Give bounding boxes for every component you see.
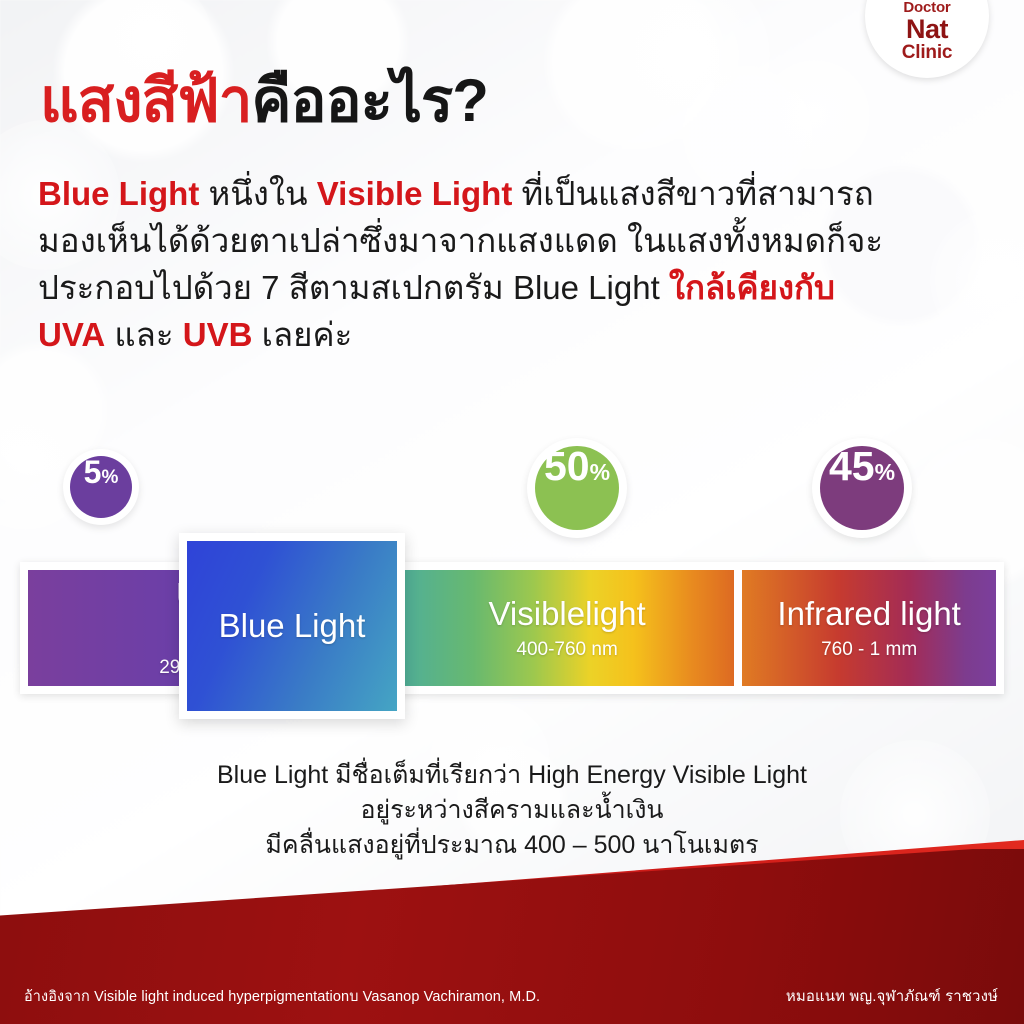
blue-light-gradient: Blue Light xyxy=(187,541,397,711)
visible-percent-number: 50 xyxy=(544,446,590,487)
page-title-red: แสงสีฟ้า xyxy=(40,67,251,134)
visible-percent-symbol: % xyxy=(590,461,610,484)
infrared-percent-number: 45 xyxy=(829,446,875,487)
intro-paragraph: Blue Light หนึ่งใน Visible Light ที่เป็น… xyxy=(38,170,968,358)
spectrum-segment-visible-range: 400-760 nm xyxy=(516,638,617,662)
infrared-percent-symbol: % xyxy=(875,461,895,484)
infrared-percent-disc: 45% xyxy=(820,446,904,530)
logo-line-clinic: Clinic xyxy=(902,43,953,64)
intro-term-uva: UVA xyxy=(38,316,105,353)
intro-term-visible-light: Visible Light xyxy=(317,175,513,212)
intro-line-2: มองเห็นได้ด้วยตาเปล่าซึ่งมาจากแสงแดด ในแ… xyxy=(38,222,883,259)
uv-percent-number: 5 xyxy=(84,456,102,488)
intro-text-1: หนึ่งใน xyxy=(199,175,316,212)
uv-percent-bubble: 5% xyxy=(63,449,139,525)
caption-line-2: อยู่ระหว่างสีครามและน้ำเงิน xyxy=(0,793,1024,828)
intro-text-3: และ xyxy=(105,316,183,353)
intro-term-uvb: UVB xyxy=(183,316,253,353)
spectrum-segment-infrared-range: 760 - 1 mm xyxy=(821,638,917,662)
intro-text-4: เลยค่ะ xyxy=(252,316,352,353)
intro-text-2: ที่เป็นแสงสีขาวที่สามารถ xyxy=(512,175,873,212)
visible-percent-bubble: 50% xyxy=(527,438,627,538)
spectrum-segment-infrared: Infrared light 760 - 1 mm xyxy=(742,570,996,686)
uv-percent-disc: 5% xyxy=(70,456,132,518)
spectrum-segment-visible: Visiblelight 400-760 nm xyxy=(400,570,734,686)
caption-block: Blue Light มีชื่อเต็มที่เรียกว่า High En… xyxy=(0,758,1024,863)
spectrum-bar: UVB UVA 290-400 nm Visiblelight 400-760 … xyxy=(20,562,1004,694)
blue-light-label: Blue Light xyxy=(219,607,366,645)
spectrum-segment-visible-title: Visiblelight xyxy=(489,595,646,633)
blue-light-highlight-card: Blue Light xyxy=(179,533,405,719)
uv-percent-symbol: % xyxy=(101,468,118,487)
intro-line-3: ประกอบไปด้วย 7 สีตามสเปกตรัม Blue Light xyxy=(38,269,669,306)
page-title-dark: คืออะไร? xyxy=(251,67,488,134)
footer-author: หมอแนท พญ.จุฬาภัณฑ์ ราชวงษ์ xyxy=(786,984,998,1008)
page-title: แสงสีฟ้าคืออะไร? xyxy=(40,68,488,134)
visible-percent-disc: 50% xyxy=(535,446,619,530)
logo-line-nat: Nat xyxy=(906,16,948,43)
intro-emphasis-near: ใกล้เคียงกับ xyxy=(669,269,835,306)
footer-reference: อ้างอิงจาก Visible light induced hyperpi… xyxy=(24,985,540,1008)
infographic-canvas: Doctor Nat Clinic แสงสีฟ้าคืออะไร? Blue … xyxy=(0,0,1024,1024)
infrared-percent-bubble: 45% xyxy=(812,438,912,538)
intro-term-blue-light: Blue Light xyxy=(38,175,199,212)
caption-line-1: Blue Light มีชื่อเต็มที่เรียกว่า High En… xyxy=(0,758,1024,793)
spectrum-segment-infrared-title: Infrared light xyxy=(777,595,960,633)
